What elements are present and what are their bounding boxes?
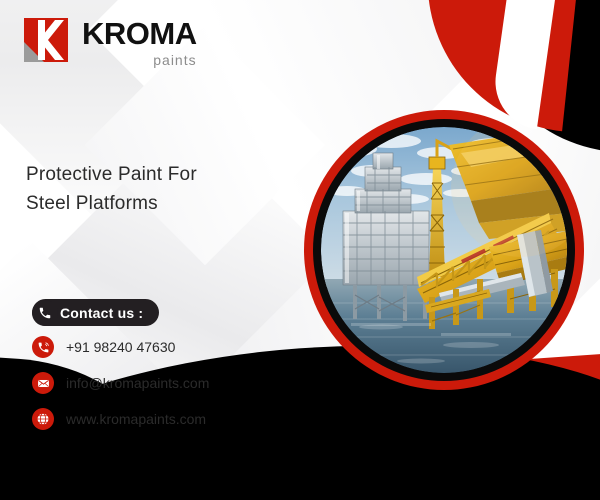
- phone-icon: [32, 300, 58, 326]
- contact-phone-value: +91 98240 47630: [66, 339, 175, 355]
- headline-line-1: Protective Paint For: [26, 160, 197, 189]
- contact-list: +91 98240 47630 info@kromapaints.com: [32, 336, 209, 444]
- brand-logo[interactable]: KROMA paints: [24, 18, 197, 67]
- kroma-k-chevron-mark-icon: [24, 18, 68, 62]
- brand-name: KROMA: [82, 18, 197, 49]
- poster-canvas: KROMA paints Protective Paint For Steel …: [0, 0, 600, 500]
- globe-icon: [32, 408, 54, 430]
- headline-line-2: Steel Platforms: [26, 189, 197, 218]
- contact-us-label: Contact us :: [60, 305, 143, 321]
- page-title: Protective Paint For Steel Platforms: [26, 160, 197, 219]
- photo-ring-outer: [304, 110, 584, 390]
- contact-item-email[interactable]: info@kromapaints.com: [32, 372, 209, 394]
- brand-tagline: paints: [82, 53, 197, 67]
- contact-item-phone[interactable]: +91 98240 47630: [32, 336, 209, 358]
- contact-item-website[interactable]: www.kromapaints.com: [32, 408, 209, 430]
- photo-ring-inner: [313, 119, 575, 381]
- contact-website-value: www.kromapaints.com: [66, 411, 206, 427]
- phone-icon: [32, 336, 54, 358]
- oil-platform-photo: [321, 127, 567, 373]
- contact-email-value: info@kromapaints.com: [66, 375, 209, 391]
- email-icon: [32, 372, 54, 394]
